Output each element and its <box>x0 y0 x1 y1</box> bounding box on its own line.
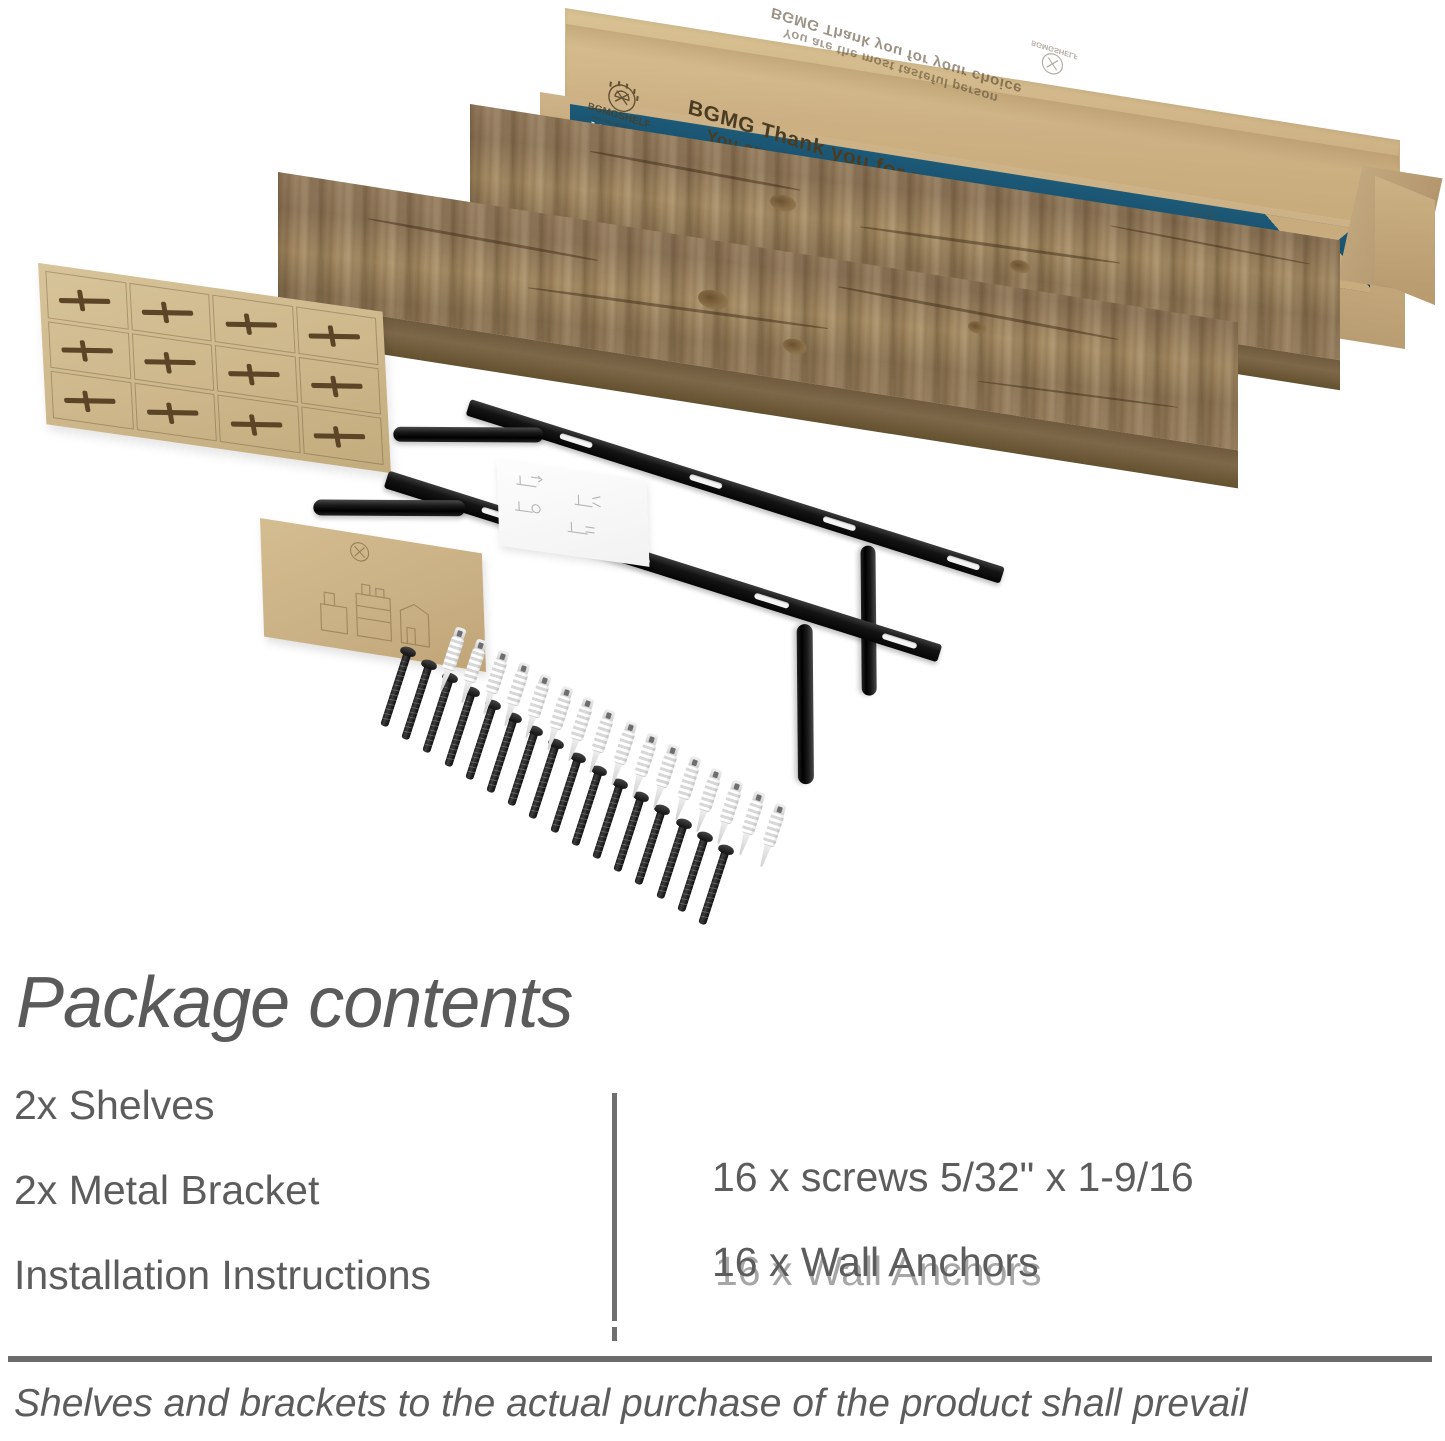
sketch-diagram-icon <box>512 495 547 520</box>
footnote-text: Shelves and brackets to the actual purch… <box>14 1382 1248 1426</box>
instruction-step <box>298 357 381 415</box>
instruction-step <box>51 371 134 429</box>
instruction-step <box>215 345 298 403</box>
instruction-step <box>296 306 379 364</box>
kraft-card-illustration-icon <box>310 572 442 655</box>
bgmgshelf-logo-mirrored-icon: BGMGSHELF <box>1027 34 1078 87</box>
list-item: 16 x screws 5/32" x 1-9/16 <box>712 1157 1412 1198</box>
list-item-ghost-duplicate: 16 x Wall Anchors <box>715 1251 1042 1292</box>
instruction-step <box>131 333 214 391</box>
instruction-step <box>134 383 217 441</box>
sketch-diagram-icon <box>564 517 599 542</box>
contents-column-left: 2x Shelves 2x Metal Bracket Installation… <box>14 1085 594 1340</box>
sketch-diagram-icon <box>513 469 548 494</box>
instruction-step <box>45 271 128 329</box>
package-contents-list: 2x Shelves 2x Metal Bracket Installation… <box>0 1085 1445 1335</box>
bracket-support-rod <box>393 427 543 443</box>
page-title: Package contents <box>16 962 572 1044</box>
bracket-support-rod <box>797 624 814 784</box>
column-divider-tick <box>612 1327 617 1341</box>
column-divider <box>612 1093 617 1321</box>
product-photo: BGMGSHELF NATURAL WOOD & IRON BGMGSHELF … <box>0 0 1445 955</box>
instruction-step <box>48 321 131 379</box>
list-item: 16 x Wall Anchors 16 x Wall Anchors <box>712 1242 1412 1283</box>
sketch-diagram-icon <box>571 490 606 515</box>
contents-column-right: 16 x screws 5/32" x 1-9/16 16 x Wall Anc… <box>712 1157 1412 1327</box>
bracket-support-rod <box>313 500 465 517</box>
footnote-divider <box>8 1356 1432 1362</box>
instruction-step <box>129 283 212 341</box>
list-item: 2x Metal Bracket <box>14 1170 594 1211</box>
kraft-card-logo-icon <box>344 537 375 568</box>
list-item: 2x Shelves <box>14 1085 594 1126</box>
instruction-step <box>217 395 300 453</box>
instruction-step <box>212 295 295 353</box>
list-item: Installation Instructions <box>14 1255 594 1296</box>
svg-text:BGMGSHELF: BGMGSHELF <box>1030 38 1078 61</box>
